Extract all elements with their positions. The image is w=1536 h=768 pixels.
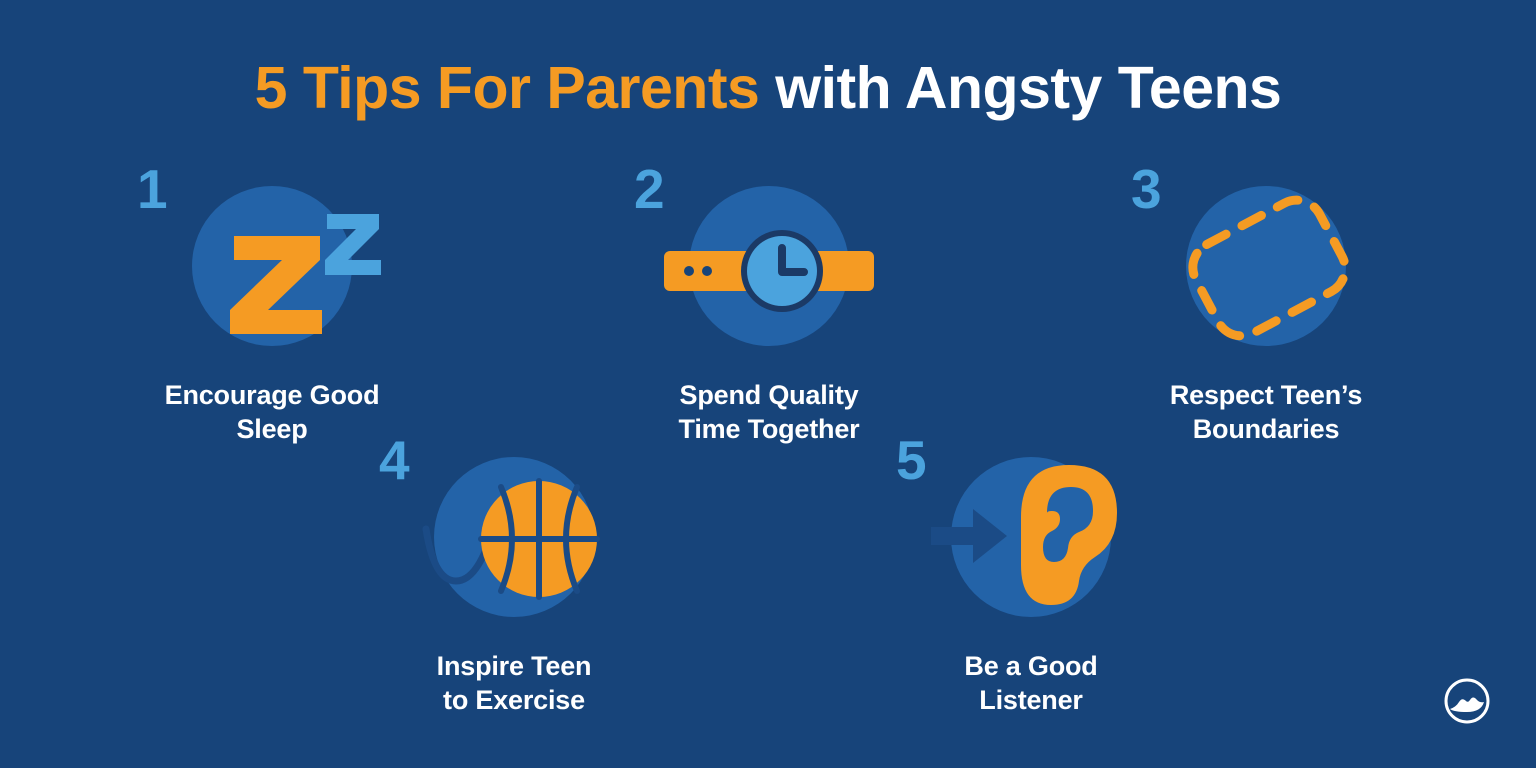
tip-card-5: 5 Be a Good Listener <box>871 447 1191 717</box>
tip-5-icon-area: 5 <box>871 447 1191 627</box>
tip-2-number: 2 <box>634 162 665 217</box>
tip-1-caption-line-1: Encourage Good <box>112 378 432 412</box>
tip-2-icon-area: 2 <box>609 176 929 356</box>
tip-5-caption-line-1: Be a Good <box>871 649 1191 683</box>
tip-4-caption: Inspire Teen to Exercise <box>354 649 674 717</box>
page-title: 5 Tips For Parents with Angsty Teens <box>0 56 1536 121</box>
tip-3-caption-line-1: Respect Teen’s <box>1106 378 1426 412</box>
page-title-accent: 5 Tips For Parents <box>255 55 760 121</box>
tip-2-caption-line-2: Time Together <box>609 412 929 446</box>
tip-1-icon-area: 1 <box>112 176 432 356</box>
tip-3-caption: Respect Teen’s Boundaries <box>1106 378 1426 446</box>
tip-1-number: 1 <box>137 162 168 217</box>
page-title-plain: with Angsty Teens <box>775 55 1281 121</box>
mountain-circle-logo[interactable] <box>1442 676 1492 726</box>
tip-5-caption: Be a Good Listener <box>871 649 1191 717</box>
tip-4-icon-area: 4 <box>354 447 674 627</box>
tip-card-2: 2 Spend Quality Time Together <box>609 176 929 446</box>
tip-2-caption: Spend Quality Time Together <box>609 378 929 446</box>
tip-2-caption-line-1: Spend Quality <box>609 378 929 412</box>
tip-4-caption-line-2: to Exercise <box>354 683 674 717</box>
tip-card-3: 3 Respect Teen’s Boundaries <box>1106 176 1426 446</box>
tip-card-1: 1 Encourage Good Sleep <box>112 176 432 446</box>
tip-4-number: 4 <box>379 433 410 488</box>
tip-3-icon-area: 3 <box>1106 176 1426 356</box>
tip-3-number: 3 <box>1131 162 1162 217</box>
tip-5-caption-line-2: Listener <box>871 683 1191 717</box>
tip-4-caption-line-1: Inspire Teen <box>354 649 674 683</box>
tip-5-number: 5 <box>896 433 927 488</box>
tip-card-4: 4 Inspire Teen to Exercise <box>354 447 674 717</box>
tip-3-caption-line-2: Boundaries <box>1106 412 1426 446</box>
